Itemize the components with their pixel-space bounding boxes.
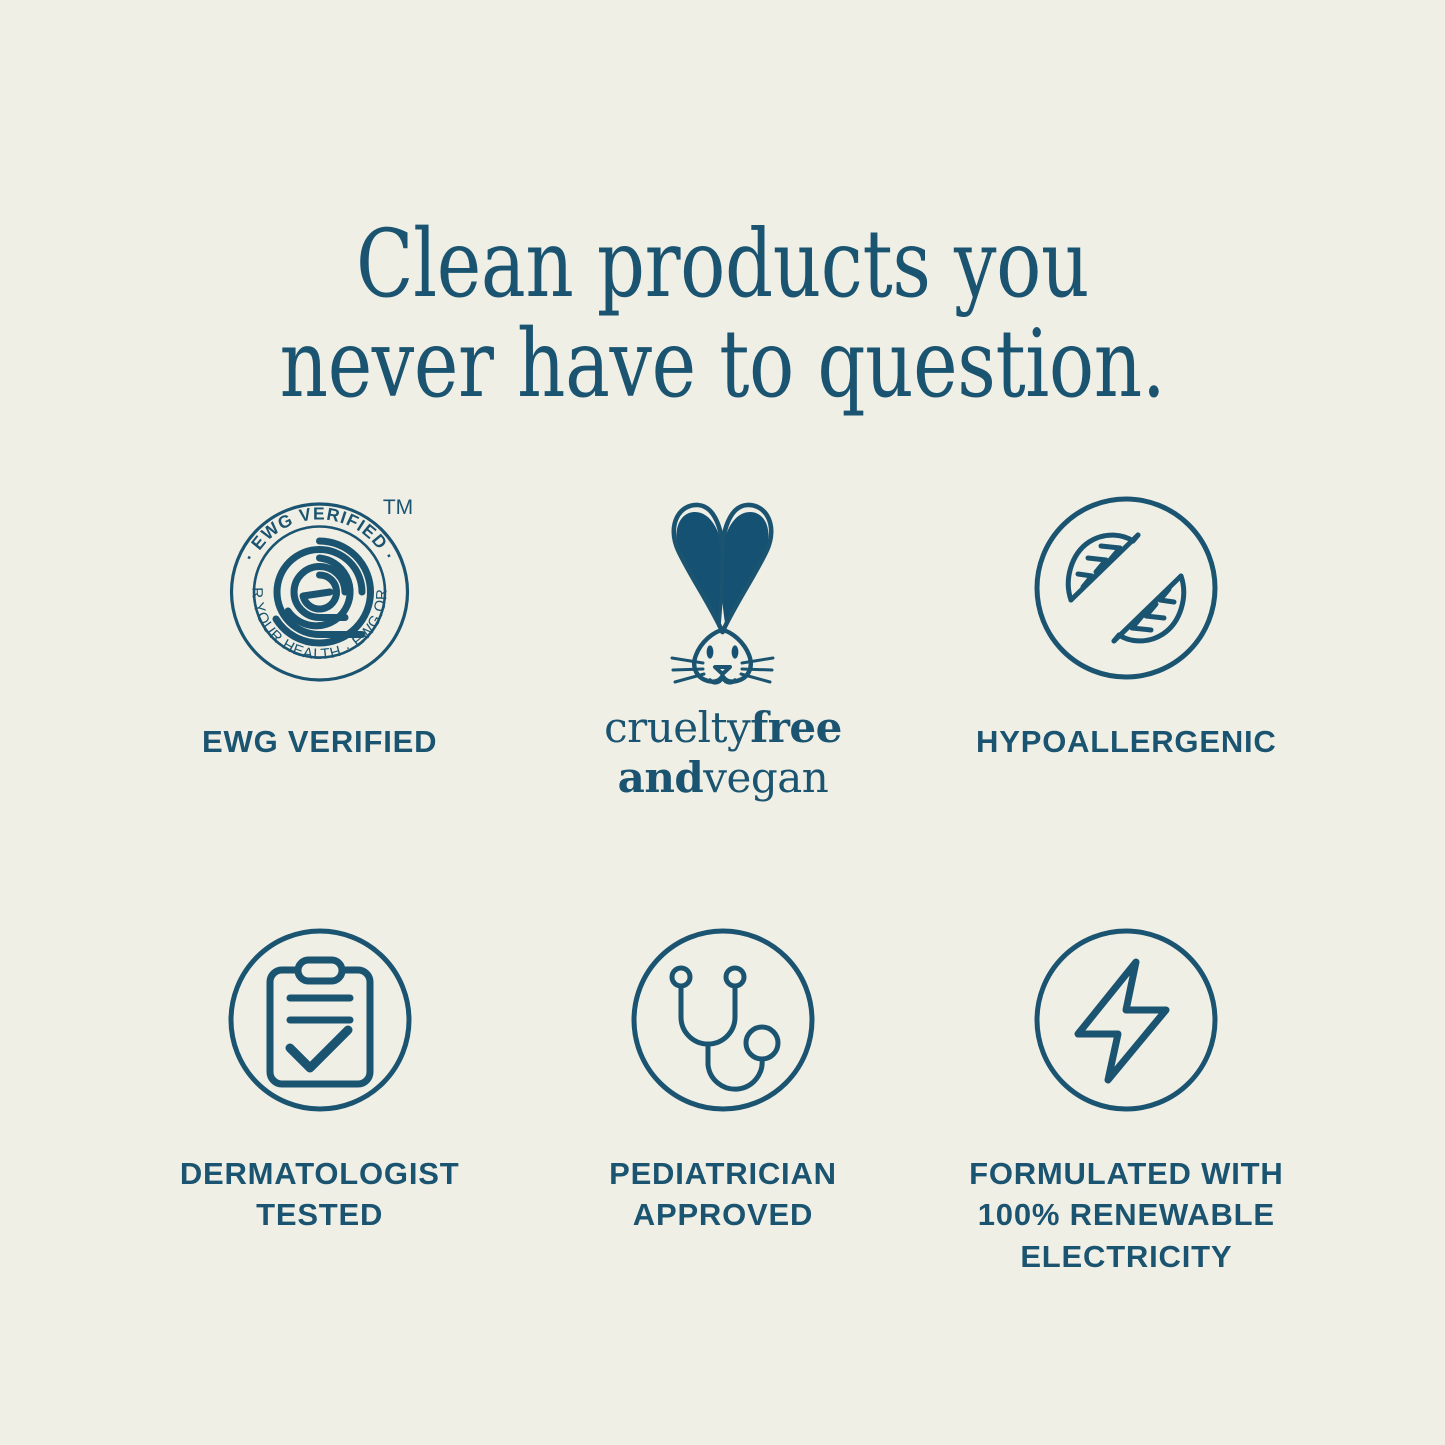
lightning-bolt-icon — [1026, 912, 1226, 1127]
badge-ewg-verified[interactable]: · EWG VERIFIED · FOR YOUR HEALTH · EWG.O… — [118, 480, 521, 802]
cruelty-free-bunny-icon — [615, 480, 830, 695]
badge-label-dermatologist-tested: DERMATOLOGIST TESTED — [140, 1153, 500, 1235]
certification-badge-grid: · EWG VERIFIED · FOR YOUR HEALTH · EWG.O… — [118, 480, 1328, 1277]
badge-label-renewable-electricity: FORMULATED WITH 100% RENEWABLE ELECTRICI… — [946, 1153, 1306, 1277]
trademark-mark: TM — [383, 496, 413, 519]
badge-cruelty-free-and-vegan[interactable]: crueltyfree andvegan CRUELTY FREE AND VE… — [521, 480, 924, 802]
feathers-icon — [1026, 480, 1226, 695]
cruelty-free-wordmark: crueltyfree andvegan — [604, 703, 842, 802]
badge-label-pediatrician-approved: PEDIATRICIAN APPROVED — [543, 1153, 903, 1235]
cruelty-free-wordmark-line-1: crueltyfree — [604, 703, 842, 753]
wordmark-and: and — [618, 753, 704, 802]
badge-dermatologist-tested[interactable]: DERMATOLOGIST TESTED — [118, 912, 521, 1277]
cruelty-free-wordmark-line-2: andvegan — [604, 753, 842, 803]
clipboard-check-icon — [220, 912, 420, 1127]
stethoscope-icon — [623, 912, 823, 1127]
badge-renewable-electricity[interactable]: FORMULATED WITH 100% RENEWABLE ELECTRICI… — [925, 912, 1328, 1277]
ewg-verified-seal-icon: · EWG VERIFIED · FOR YOUR HEALTH · EWG.O… — [212, 480, 427, 695]
wordmark-vegan: vegan — [703, 753, 828, 802]
badge-hypoallergenic[interactable]: HYPOALLERGENIC — [925, 480, 1328, 802]
wordmark-cruelty: cruelty — [604, 703, 750, 752]
badge-pediatrician-approved[interactable]: PEDIATRICIAN APPROVED — [521, 912, 924, 1277]
page-title: Clean products you never have to questio… — [145, 215, 1301, 414]
wordmark-free: free — [750, 703, 842, 752]
page-title-line-1: Clean products you — [145, 215, 1301, 315]
badge-label-hypoallergenic: HYPOALLERGENIC — [976, 721, 1277, 762]
page-title-line-2: never have to question. — [145, 315, 1301, 415]
badge-label-ewg-verified: EWG VERIFIED — [202, 721, 437, 762]
page-root: Clean products you never have to questio… — [0, 0, 1445, 1445]
